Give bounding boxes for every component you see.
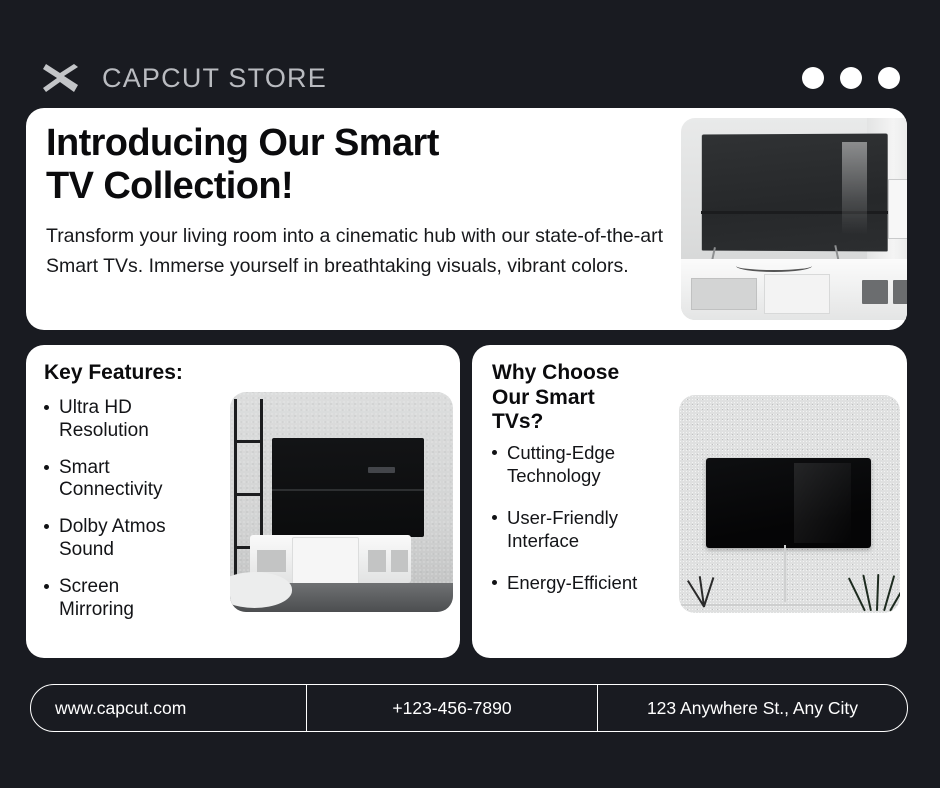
photo-tv-glare: [794, 463, 851, 544]
brand-logo[interactable]: CAPCUT STORE: [40, 61, 327, 95]
photo-plant: [860, 574, 895, 611]
list-item: Screen Mirroring: [44, 576, 224, 622]
list-item: Smart Connectivity: [44, 457, 224, 503]
list-item: User-Friendly Interface: [492, 507, 692, 552]
key-features-card: Key Features: Ultra HD Resolution Smart …: [26, 345, 460, 658]
why-choose-photo: [679, 395, 900, 613]
photo-plant-blade: [876, 574, 879, 611]
list-item: Energy-Efficient: [492, 572, 692, 595]
why-choose-list: Cutting-Edge Technology User-Friendly In…: [492, 442, 692, 615]
photo-basket-2: [893, 280, 907, 304]
photo-basket-1: [862, 280, 887, 304]
dot-1-icon[interactable]: [802, 67, 824, 89]
hero-card: Introducing Our Smart TV Collection! Tra…: [26, 108, 907, 330]
photo-twig: [686, 576, 721, 607]
hero-body: Transform your living room into a cinema…: [46, 222, 666, 281]
list-item: Ultra HD Resolution: [44, 397, 224, 443]
photo-tv-glare: [842, 142, 867, 235]
key-features-list: Ultra HD Resolution Smart Connectivity D…: [44, 397, 224, 635]
photo-twig-stem: [703, 577, 714, 607]
poster-canvas: CAPCUT STORE Introducing Our Smart TV Co…: [0, 0, 940, 788]
photo-rack-shelf: [234, 440, 263, 443]
footer-phone[interactable]: +123-456-7890: [306, 685, 598, 731]
photo-shelf-2: [764, 274, 830, 314]
photo-shelf-1: [691, 278, 757, 310]
dot-3-icon[interactable]: [878, 67, 900, 89]
why-choose-title: Why Choose Our Smart TVs?: [492, 361, 619, 435]
photo-tv-badge: [368, 467, 395, 474]
page-header: CAPCUT STORE: [40, 54, 900, 102]
hero-tv-photo: [681, 118, 907, 320]
capcut-logo-icon: [40, 61, 84, 95]
footer-website[interactable]: www.capcut.com: [31, 685, 306, 731]
brand-name: CAPCUT STORE: [102, 63, 327, 94]
photo-cable: [784, 545, 786, 602]
why-photo-scene: [679, 395, 900, 613]
hero-photo-scene: [681, 118, 907, 320]
key-features-title: Key Features:: [44, 360, 183, 385]
footer-address: 123 Anywhere St., Any City: [598, 685, 907, 731]
hero-title: Introducing Our Smart TV Collection!: [46, 122, 666, 208]
photo-tv-screen: [272, 438, 424, 537]
photo-cable: [736, 259, 812, 271]
photo-wall-label: [888, 179, 907, 240]
hero-text-block: Introducing Our Smart TV Collection! Tra…: [46, 122, 666, 281]
photo-unit-cell: [391, 550, 409, 572]
features-photo-scene: [230, 392, 453, 612]
list-item: Cutting-Edge Technology: [492, 442, 692, 487]
key-features-photo: [230, 392, 453, 612]
photo-unit-cell: [257, 550, 286, 572]
contact-footer: www.capcut.com +123-456-7890 123 Anywher…: [30, 684, 908, 732]
photo-unit-cell: [368, 550, 386, 572]
photo-rack-shelf: [234, 493, 263, 496]
photo-tv-reflection: [272, 489, 424, 491]
why-choose-card: Why Choose Our Smart TVs? Cutting-Edge T…: [472, 345, 907, 658]
list-item: Dolby Atmos Sound: [44, 516, 224, 562]
dot-2-icon[interactable]: [840, 67, 862, 89]
window-dots: [802, 67, 900, 89]
